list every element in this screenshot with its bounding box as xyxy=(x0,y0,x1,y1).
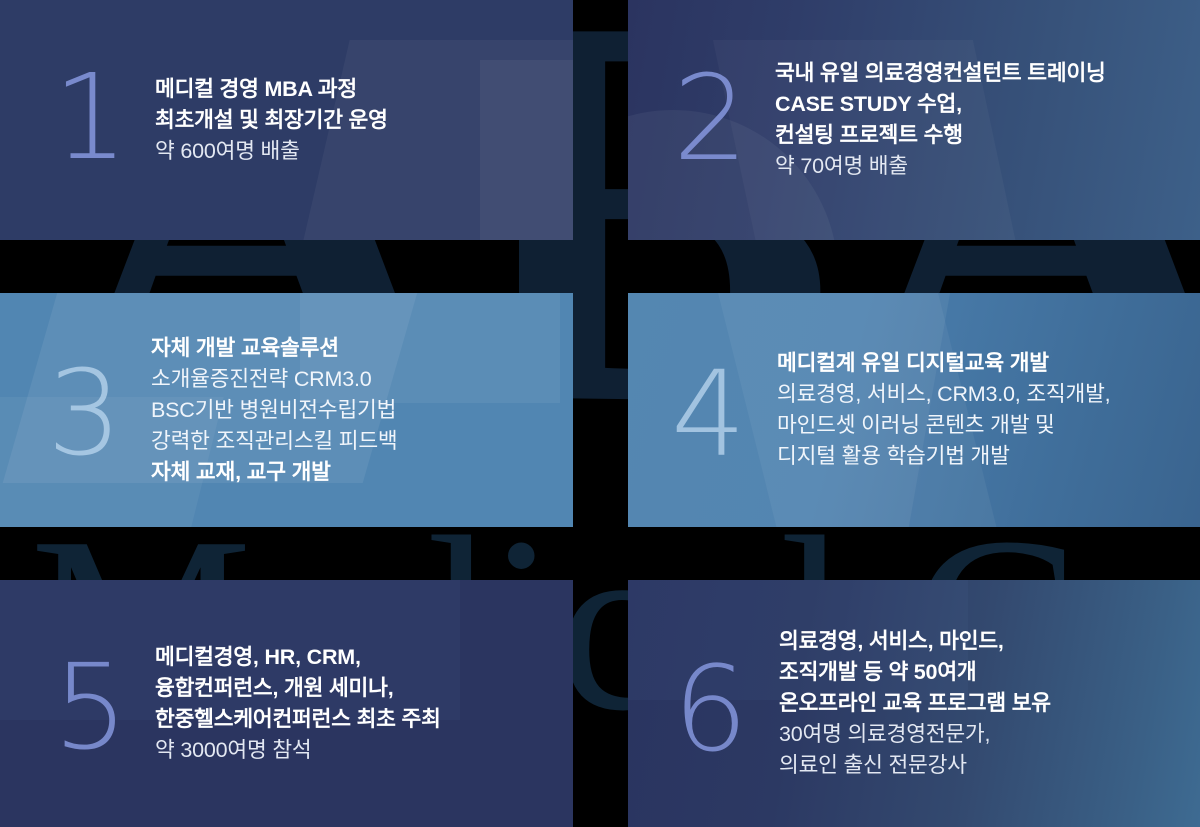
card-number: 5 xyxy=(38,648,143,766)
card-line: 30여명 의료경영전문가, xyxy=(779,719,1200,750)
feature-card-3[interactable]: 3 자체 개발 교육솔루션 소개율증진전략 CRM3.0 BSC기반 병원비전수… xyxy=(0,293,573,527)
feature-grid: 1 메디컬 경영 MBA 과정 최초개설 및 최장기간 운영 약 600여명 배… xyxy=(0,0,1200,827)
card-number: 3 xyxy=(32,354,137,472)
card-number: 1 xyxy=(38,58,143,176)
card-text-block: 메디컬계 유일 디지털교육 개발 의료경영, 서비스, CRM3.0, 조직개발… xyxy=(777,348,1200,472)
card-text-block: 의료경영, 서비스, 마인드, 조직개발 등 약 50여개 온오프라인 교육 프… xyxy=(779,626,1200,781)
feature-card-2[interactable]: 2 국내 유일 의료경영컨설턴트 트레이닝 CASE STUDY 수업, 컨설팅… xyxy=(628,0,1200,240)
card-line: 마인드셋 이러닝 콘텐츠 개발 및 xyxy=(777,410,1200,441)
card-line: 의료경영, 서비스, 마인드, xyxy=(779,626,1200,657)
feature-card-1[interactable]: 1 메디컬 경영 MBA 과정 최초개설 및 최장기간 운영 약 600여명 배… xyxy=(0,0,573,240)
card-line: 메디컬경영, HR, CRM, xyxy=(155,642,573,673)
card-line: 약 3000여명 참석 xyxy=(155,735,573,766)
card-number: 2 xyxy=(658,59,763,177)
feature-card-4[interactable]: 4 메디컬계 유일 디지털교육 개발 의료경영, 서비스, CRM3.0, 조직… xyxy=(628,293,1200,527)
card-line: 한중헬스케어컨퍼런스 최초 주최 xyxy=(155,704,573,735)
card-line: 메디컬계 유일 디지털교육 개발 xyxy=(777,348,1200,379)
card-line: 온오프라인 교육 프로그램 보유 xyxy=(779,688,1200,719)
card-line: 메디컬 경영 MBA 과정 xyxy=(155,74,573,105)
card-line: 소개율증진전략 CRM3.0 xyxy=(151,364,573,395)
card-line: 컨설팅 프로젝트 수행 xyxy=(775,120,1200,151)
infographic-stage: ABA Medical Group 1 메디컬 경영 MBA 과정 최초개설 및… xyxy=(0,0,1200,827)
card-number: 6 xyxy=(658,650,763,768)
card-line: 국내 유일 의료경영컨설턴트 트레이닝 xyxy=(775,58,1200,89)
card-text-block: 메디컬경영, HR, CRM, 융합컨퍼런스, 개원 세미나, 한중헬스케어컨퍼… xyxy=(155,642,573,766)
card-line: 약 600여명 배출 xyxy=(155,136,573,167)
card-line: 융합컨퍼런스, 개원 세미나, xyxy=(155,673,573,704)
card-text-block: 메디컬 경영 MBA 과정 최초개설 및 최장기간 운영 약 600여명 배출 xyxy=(155,74,573,167)
card-number: 4 xyxy=(656,355,761,473)
card-line: 의료인 출신 전문강사 xyxy=(779,750,1200,781)
card-line: 디지털 활용 학습기법 개발 xyxy=(777,441,1200,472)
card-line: 약 70여명 배출 xyxy=(775,151,1200,182)
card-line: 최초개설 및 최장기간 운영 xyxy=(155,105,573,136)
card-line: BSC기반 병원비전수립기법 xyxy=(151,395,573,426)
card-text-block: 자체 개발 교육솔루션 소개율증진전략 CRM3.0 BSC기반 병원비전수립기… xyxy=(151,333,573,488)
card-line: 자체 개발 교육솔루션 xyxy=(151,333,573,364)
card-line: 의료경영, 서비스, CRM3.0, 조직개발, xyxy=(777,379,1200,410)
feature-card-6[interactable]: 6 의료경영, 서비스, 마인드, 조직개발 등 약 50여개 온오프라인 교육… xyxy=(628,580,1200,827)
card-line: 자체 교재, 교구 개발 xyxy=(151,457,573,488)
card-line: 조직개발 등 약 50여개 xyxy=(779,657,1200,688)
card-line: CASE STUDY 수업, xyxy=(775,89,1200,120)
card-text-block: 국내 유일 의료경영컨설턴트 트레이닝 CASE STUDY 수업, 컨설팅 프… xyxy=(775,58,1200,182)
feature-card-5[interactable]: 5 메디컬경영, HR, CRM, 융합컨퍼런스, 개원 세미나, 한중헬스케어… xyxy=(0,580,573,827)
card-line: 강력한 조직관리스킬 피드백 xyxy=(151,426,573,457)
